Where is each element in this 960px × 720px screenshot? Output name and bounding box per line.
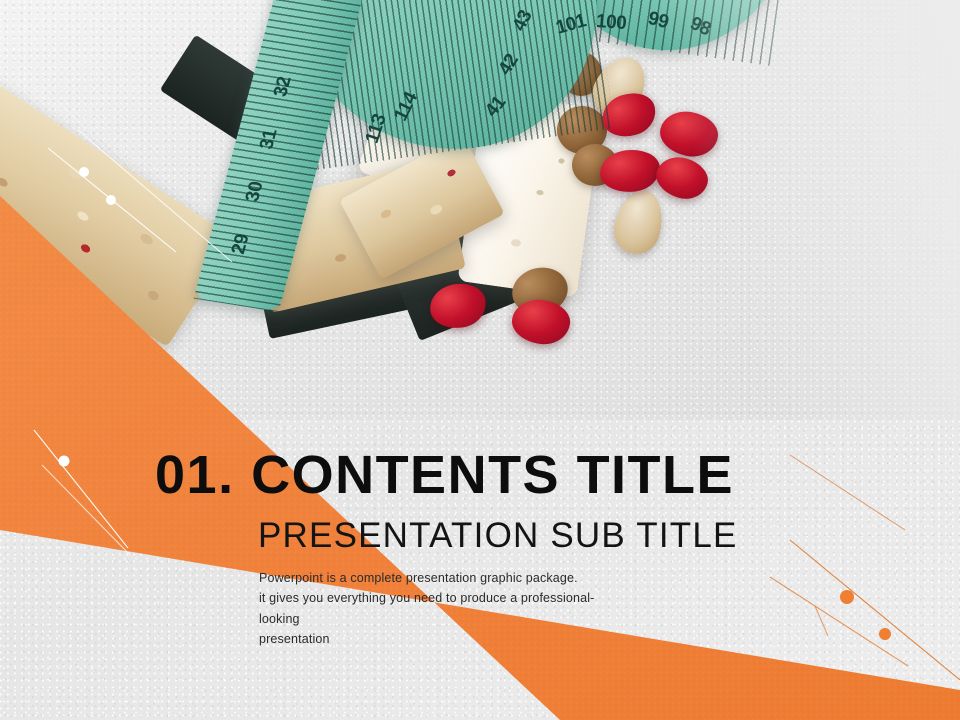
body-line: it gives you everything you need to prod… xyxy=(259,588,619,629)
text-content: 01. CONTENTS TITLE PRESENTATION SUB TITL… xyxy=(0,0,960,720)
slide-canvas: 32 31 30 29 113 114 43 42 41 100 101 99 … xyxy=(0,0,960,720)
body-paragraph: Powerpoint is a complete presentation gr… xyxy=(259,568,619,649)
page-title: 01. CONTENTS TITLE xyxy=(155,448,734,502)
body-line: presentation xyxy=(259,629,619,649)
page-subtitle: PRESENTATION SUB TITLE xyxy=(258,518,738,553)
body-line: Powerpoint is a complete presentation gr… xyxy=(259,568,619,588)
